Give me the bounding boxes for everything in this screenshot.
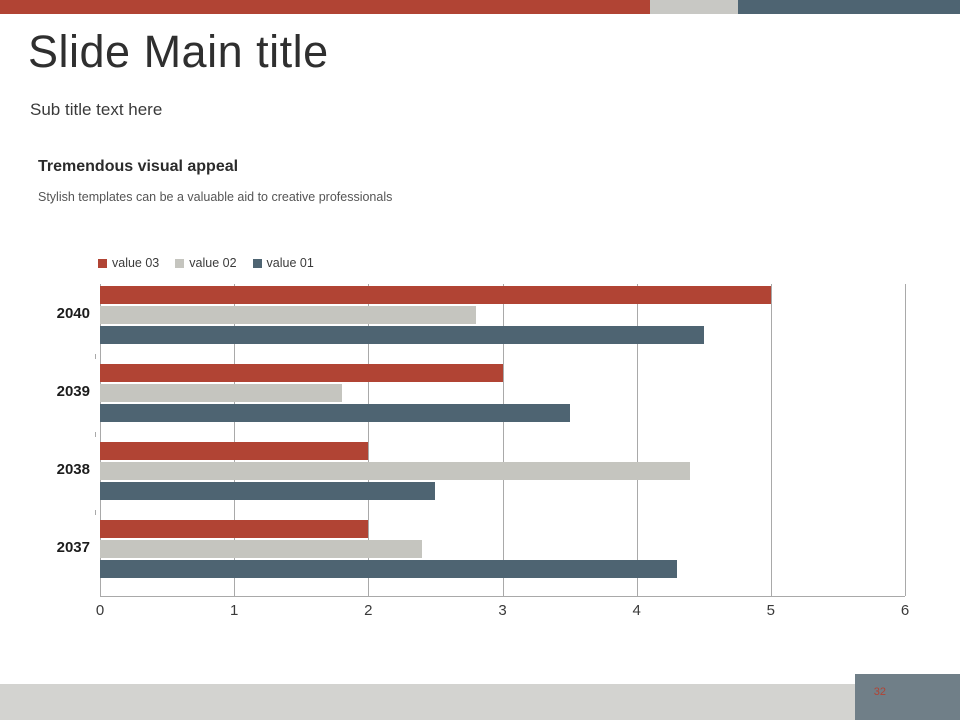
topbar-segment-red [0, 0, 650, 14]
legend-label: value 02 [189, 256, 236, 270]
chart-bar [100, 384, 342, 402]
y-axis-category-label: 2039 [0, 383, 90, 400]
x-axis-tick-label: 4 [622, 602, 652, 619]
chart-bar [100, 286, 771, 304]
content-subheading: Stylish templates can be a valuable aid … [38, 190, 392, 204]
x-axis-tick-label: 2 [353, 602, 383, 619]
chart-gridline [771, 284, 772, 596]
chart-bar [100, 520, 368, 538]
x-axis-tick-label: 3 [488, 602, 518, 619]
footer-accent-block [855, 674, 960, 720]
chart-bar [100, 306, 476, 324]
topbar-segment-gray [650, 0, 738, 14]
content-heading: Tremendous visual appeal [38, 158, 238, 176]
chart-bar [100, 540, 422, 558]
legend-swatch-icon [253, 259, 262, 268]
page-title: Slide Main title [28, 28, 329, 75]
legend-item: value 02 [175, 256, 236, 270]
chart-bar [100, 326, 704, 344]
y-axis-category-label: 2037 [0, 539, 90, 556]
chart-legend: value 03value 02value 01 [98, 256, 314, 270]
top-decoration-bar [0, 0, 960, 14]
chart-bar [100, 482, 435, 500]
page-number: 32 [874, 686, 886, 698]
chart-bar [100, 404, 570, 422]
chart-bar [100, 442, 368, 460]
y-axis-category-label: 2038 [0, 461, 90, 478]
legend-item: value 03 [98, 256, 159, 270]
legend-swatch-icon [175, 259, 184, 268]
legend-swatch-icon [98, 259, 107, 268]
y-axis-tick-mark [95, 354, 96, 359]
legend-label: value 03 [112, 256, 159, 270]
chart-plot-area: 01234562040203920382037 [100, 284, 905, 596]
x-axis-tick-label: 0 [85, 602, 115, 619]
y-axis-tick-mark [95, 510, 96, 515]
y-axis-category-label: 2040 [0, 305, 90, 322]
topbar-segment-slate [738, 0, 960, 14]
chart-bar [100, 462, 690, 480]
page-subtitle: Sub title text here [30, 100, 162, 120]
y-axis-tick-mark [95, 432, 96, 437]
chart-gridline [905, 284, 906, 596]
chart-bar [100, 560, 677, 578]
legend-label: value 01 [267, 256, 314, 270]
legend-item: value 01 [253, 256, 314, 270]
bar-chart: value 03value 02value 01 012345620402039… [0, 250, 960, 650]
chart-bar [100, 364, 503, 382]
footer-bar [0, 684, 960, 720]
x-axis-tick-label: 1 [219, 602, 249, 619]
x-axis-tick-label: 5 [756, 602, 786, 619]
chart-axis-baseline [100, 596, 905, 597]
x-axis-tick-label: 6 [890, 602, 920, 619]
